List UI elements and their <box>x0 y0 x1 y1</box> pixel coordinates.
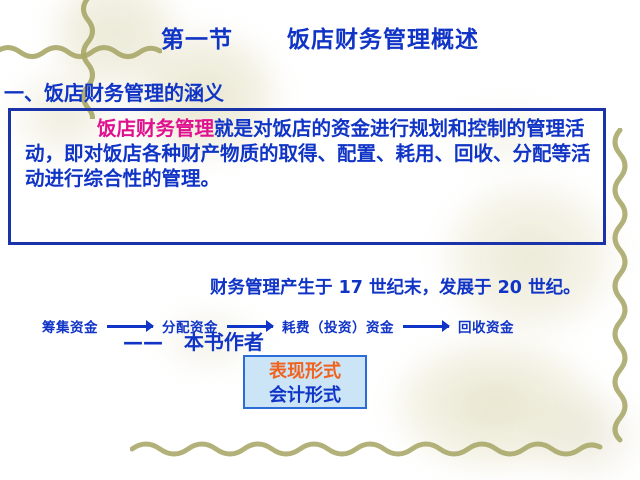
fund-flow-chain: 筹集资金 分配资金 耗费（投资）资金 回收资金 <box>42 316 514 336</box>
form-box: 表现形式 会计形式 <box>243 355 367 409</box>
form-box-line-expression: 表现形式 <box>245 360 365 384</box>
definition-text: 饭店财务管理就是对饭店的资金进行规划和控制的管理活动，即对饭店各种财产物质的取得… <box>25 116 597 191</box>
flow-node-recover-funds: 回收资金 <box>458 316 514 336</box>
slide-canvas: 第一节 饭店财务管理概述 一、饭店财务管理的涵义 饭店财务管理就是对饭店的资金进… <box>0 0 640 480</box>
flow-node-consume-funds: 耗费（投资）资金 <box>282 316 394 336</box>
flow-node-allocate-funds: 分配资金 <box>162 316 218 336</box>
definition-box: 饭店财务管理就是对饭店的资金进行规划和控制的管理活动，即对饭店各种财产物质的取得… <box>8 108 606 245</box>
right-arrow-icon <box>107 319 153 333</box>
right-arrow-icon <box>403 319 449 333</box>
definition-keyword: 饭店财务管理 <box>97 117 214 140</box>
flow-node-raise-funds: 筹集资金 <box>42 316 98 336</box>
floral-watermark <box>520 380 640 480</box>
right-arrow-icon <box>227 319 273 333</box>
floral-watermark <box>380 330 610 480</box>
vertical-squiggle-decoration <box>604 128 636 458</box>
section-heading: 一、饭店财务管理的涵义 <box>4 77 224 106</box>
horizontal-squiggle-decoration <box>130 436 620 462</box>
page-title: 第一节 饭店财务管理概述 <box>0 20 640 54</box>
history-text: 财务管理产生于 17 世纪末，发展于 20 世纪。 <box>4 275 596 301</box>
form-box-line-accounting: 会计形式 <box>245 384 365 408</box>
